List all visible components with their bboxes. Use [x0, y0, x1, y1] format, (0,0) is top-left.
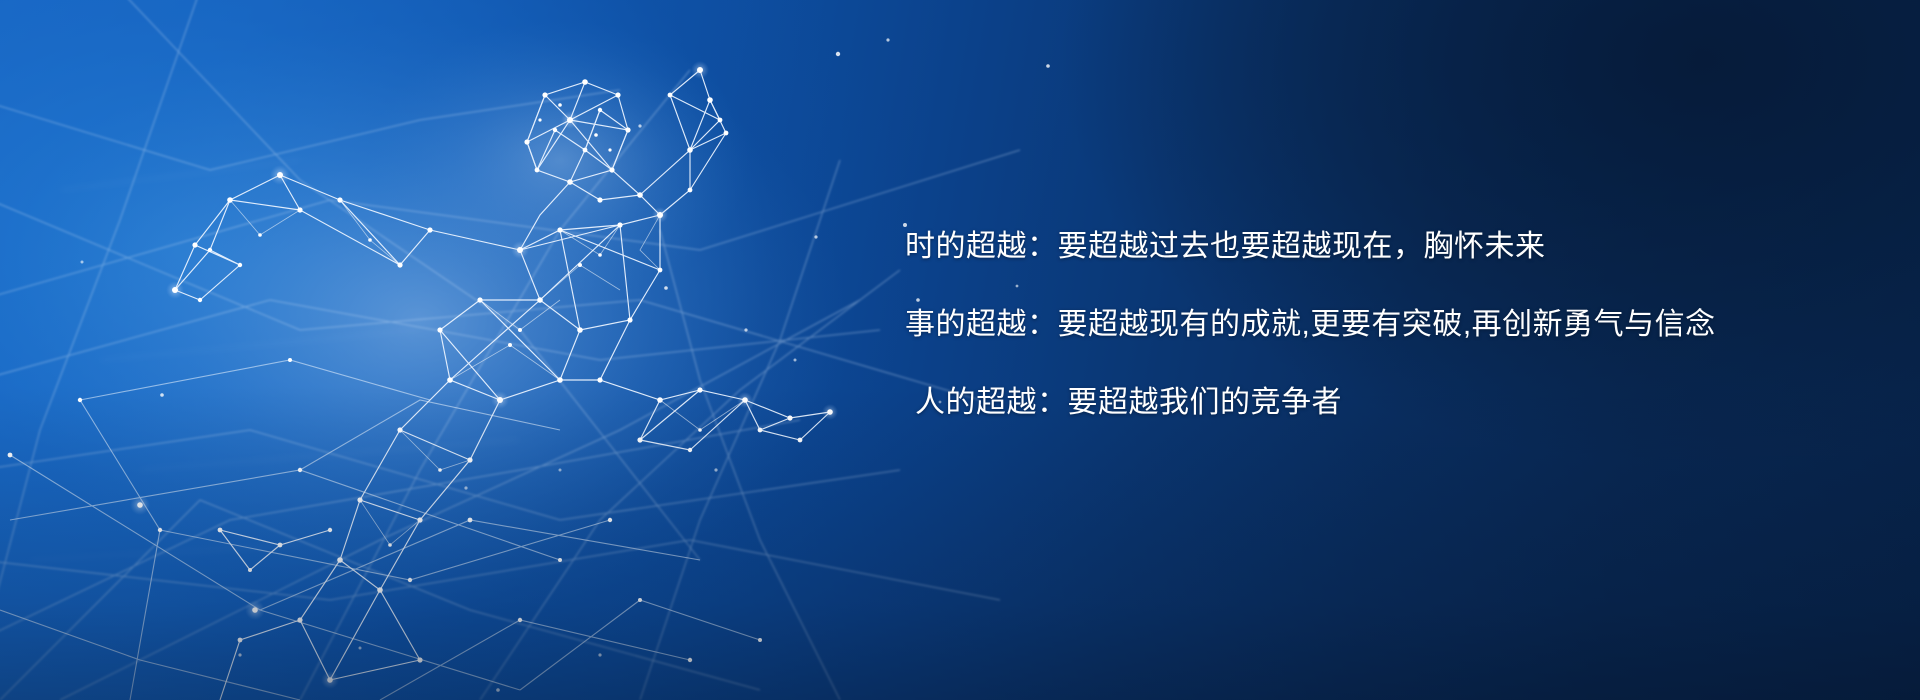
slogan-line-time: 时的超越：要超越过去也要超越现在，胸怀未来: [905, 232, 1805, 262]
slogan-text-block: 时的超越：要超越过去也要超越现在，胸怀未来 事的超越：要超越现有的成就,更要有突…: [905, 232, 1805, 418]
slogan-line-people: 人的超越：要超越我们的竞争者: [915, 388, 1805, 418]
slogan-line-matter: 事的超越：要超越现有的成就,更要有突破,再创新勇气与信念: [905, 310, 1805, 340]
hero-banner: 时的超越：要超越过去也要超越现在，胸怀未来 事的超越：要超越现有的成就,更要有突…: [0, 0, 1920, 700]
